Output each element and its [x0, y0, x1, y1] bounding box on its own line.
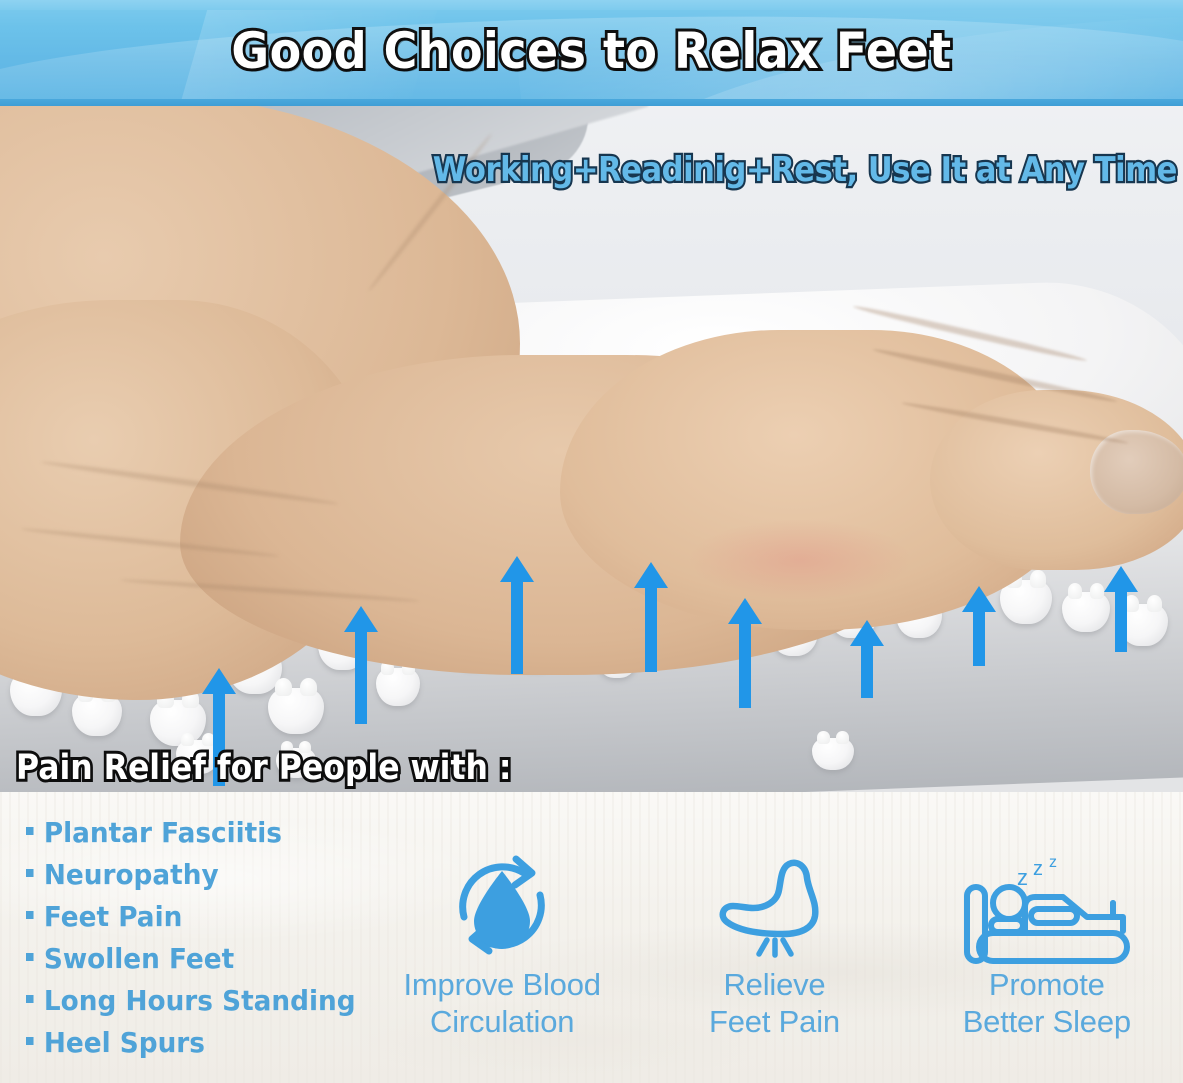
zzz-large: z [1049, 854, 1057, 871]
up-arrow-icon [634, 562, 668, 672]
foot-pain-relief-icon [642, 845, 907, 967]
hero-photo: Working+Readinig+Rest, Use It at Any Tim… [0, 0, 1183, 792]
benefit-label: Improve Blood Circulation [370, 967, 635, 1040]
list-item: Plantar Fasciitis [26, 812, 364, 854]
list-item: Heel Spurs [26, 1022, 364, 1064]
bullet-square-icon [26, 953, 34, 961]
benefit-label-line1: Relieve [642, 967, 907, 1004]
list-item-label: Heel Spurs [44, 1022, 205, 1064]
bullet-square-icon [26, 995, 34, 1003]
up-arrow-icon [500, 556, 534, 674]
benefit-label-line1: Improve Blood [370, 967, 635, 1004]
list-item-label: Neuropathy [44, 854, 219, 896]
benefit-label-line2: Circulation [370, 1004, 635, 1041]
up-arrow-icon [962, 586, 996, 666]
product-infographic: Working+Readinig+Rest, Use It at Any Tim… [0, 0, 1183, 1083]
banner-bottom-edge [0, 99, 1183, 106]
up-arrow-icon [344, 606, 378, 724]
list-item: Feet Pain [26, 896, 364, 938]
bullet-square-icon [26, 869, 34, 877]
up-arrow-icon [850, 620, 884, 698]
benefit-promote-better-sleep: z z z Promote Better Sleep [914, 845, 1179, 1040]
bullet-square-icon [26, 827, 34, 835]
pain-relief-headline: Pain Relief for People with : [16, 748, 512, 788]
list-item: Swollen Feet [26, 938, 364, 980]
up-arrow-icon [1104, 566, 1138, 652]
zzz-small: z [1017, 865, 1028, 890]
bullet-square-icon [26, 911, 34, 919]
zzz-medium: z [1033, 858, 1043, 880]
benefit-label: Relieve Feet Pain [642, 967, 907, 1040]
person-sleeping-bed-icon: z z z [914, 845, 1179, 967]
benefit-label: Promote Better Sleep [914, 967, 1179, 1040]
list-item: Long Hours Standing [26, 980, 364, 1022]
list-item-label: Swollen Feet [44, 938, 234, 980]
benefit-label-line1: Promote [914, 967, 1179, 1004]
banner-top-edge [0, 0, 1183, 10]
list-item-label: Feet Pain [44, 896, 182, 938]
benefits-list: Improve Blood Circulation Relieve Feet P… [366, 845, 1183, 1083]
list-item-label: Long Hours Standing [44, 980, 356, 1022]
conditions-list: Plantar Fasciitis Neuropathy Feet Pain S… [26, 812, 386, 1064]
benefit-label-line2: Better Sleep [914, 1004, 1179, 1041]
list-item: Neuropathy [26, 854, 364, 896]
benefit-improve-blood-circulation: Improve Blood Circulation [370, 845, 635, 1040]
header-banner: Good Choices to Relax Feet [0, 0, 1183, 106]
up-arrow-icon [728, 598, 762, 708]
hero-subtitle: Working+Readinig+Rest, Use It at Any Tim… [433, 150, 1177, 190]
list-item-label: Plantar Fasciitis [44, 812, 282, 854]
water-drop-recycle-icon [370, 845, 635, 967]
benefit-relieve-feet-pain: Relieve Feet Pain [642, 845, 907, 1040]
benefit-label-line2: Feet Pain [642, 1004, 907, 1041]
page-title: Good Choices to Relax Feet [47, 22, 1135, 80]
bullet-square-icon [26, 1037, 34, 1045]
massage-arrows-group [0, 0, 1183, 792]
